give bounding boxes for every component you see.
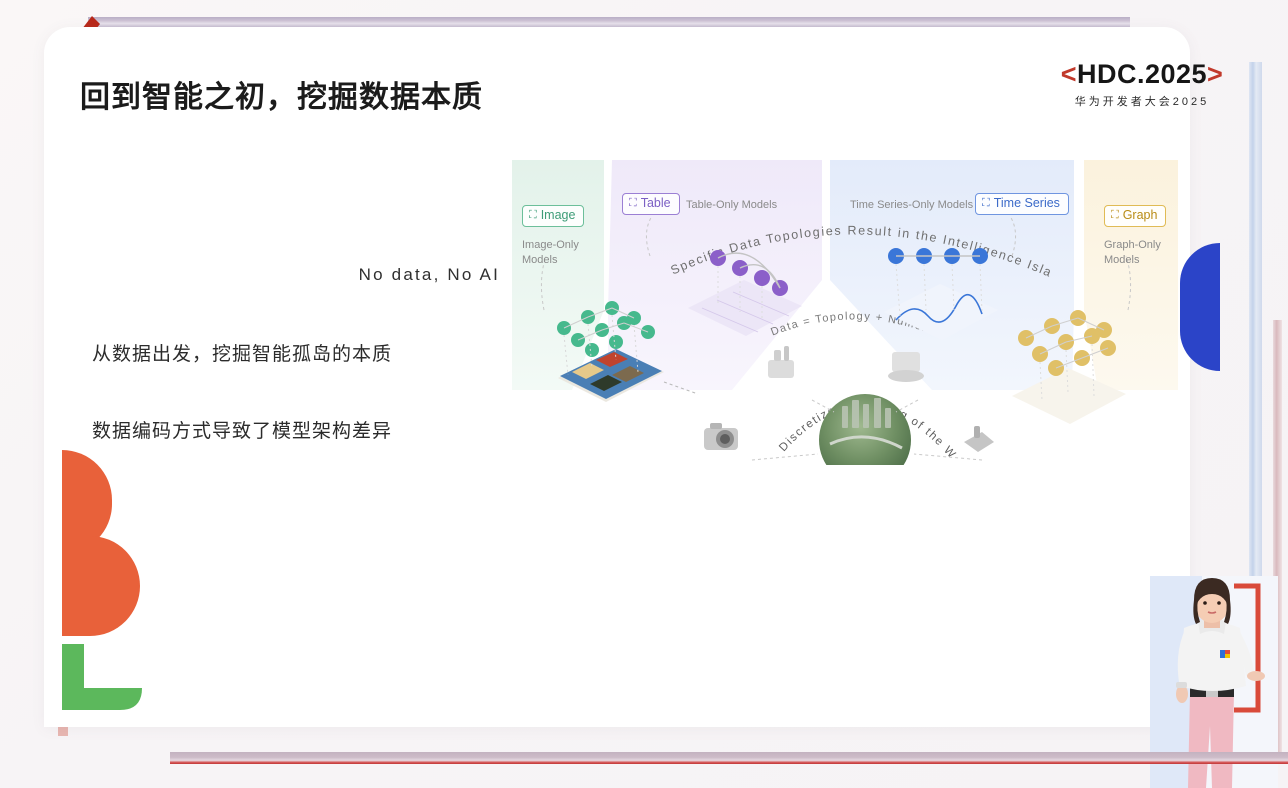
hdc-logo: <HDC.2025> 华为开发者大会2025 [1032,60,1252,109]
label-table-only-models: Table-Only Models [686,198,777,213]
badge-image-label: Image [541,208,576,224]
green-l-decoration [62,644,142,710]
bullet-item-3: 数据编码方式导致了模型架构差异 [92,416,502,443]
badge-graph-label: Graph [1123,208,1158,224]
diagram-canvas: Specific Data Topologies Result in the I… [512,160,1178,465]
logo-right-chevron: > [1207,59,1223,89]
label-image-only-models: Image-Only Models [522,238,579,268]
badge-image[interactable]: ⛶ Image [522,205,584,227]
hdc-logo-subtitle: 华为开发者大会2025 [1032,93,1252,109]
device-icon-left [768,346,794,378]
hdc-logo-main: <HDC.2025> [1032,60,1252,88]
logo-text: HDC.2025 [1077,59,1207,89]
camera-icon [704,423,738,450]
badge-table[interactable]: ⛶ Table [622,193,680,215]
blue-half-circle-decoration [1180,243,1220,371]
bullet-item-1: No data, No AI [92,265,502,285]
badge-table-label: Table [641,196,671,212]
robot-arm-icon [964,426,994,452]
chip-icon: ⛶ [629,198,637,209]
label-time-series-only-models: Time Series-Only Models [850,198,973,213]
badge-time-series-label: Time Series [994,196,1060,212]
chip-icon: ⛶ [1111,210,1119,221]
bullet-item-2: 从数据出发，挖掘智能孤岛的本质 [92,339,502,366]
device-icon-right [888,352,924,382]
region-graph [1084,160,1178,390]
bottom-decorative-strip [170,752,1288,764]
intelligence-islands-diagram: Specific Data Topologies Result in the I… [512,160,1178,465]
chip-icon: ⛶ [982,198,990,209]
label-graph-only-models: Graph-Only Models [1104,238,1161,268]
logo-left-chevron: < [1061,59,1077,89]
bullet-list: No data, No AI 从数据出发，挖掘智能孤岛的本质 数据编码方式导致了… [92,265,502,493]
page-title: 回到智能之初，挖掘数据本质 [80,72,483,116]
badge-time-series[interactable]: ⛶ Time Series [975,193,1069,215]
badge-graph[interactable]: ⛶ Graph [1104,205,1166,227]
chip-icon: ⛶ [529,210,537,221]
